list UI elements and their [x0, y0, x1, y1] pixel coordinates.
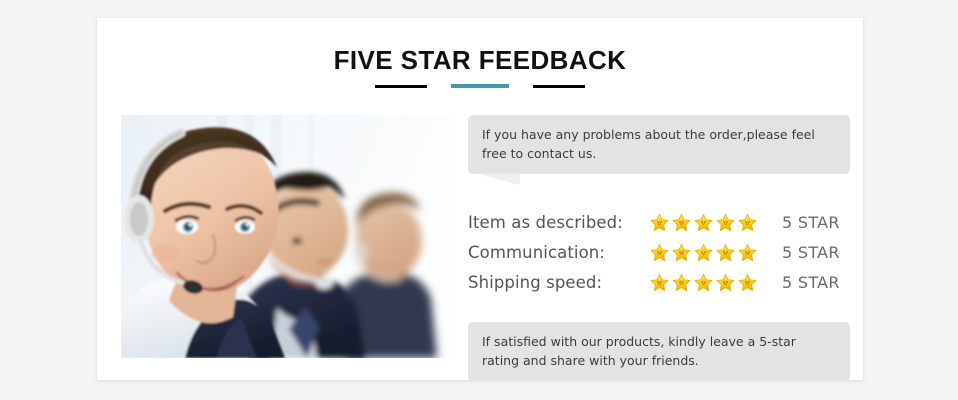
- star-icon: [694, 213, 713, 232]
- rating-label: Shipping speed:: [468, 273, 650, 292]
- rating-label: Communication:: [468, 243, 650, 262]
- rating-stars: [650, 243, 768, 262]
- star-icon: [694, 243, 713, 262]
- contact-notice-text: If you have any problems about the order…: [482, 127, 815, 161]
- satisfaction-notice-text: If satisfied with our products, kindly l…: [482, 334, 796, 368]
- page-root: FIVE STAR FEEDBACK: [0, 0, 958, 400]
- divider-rule-right: [533, 85, 585, 88]
- rating-value: 5 STAR: [768, 273, 840, 292]
- rating-value: 5 STAR: [768, 213, 840, 232]
- feedback-card: FIVE STAR FEEDBACK: [97, 18, 863, 380]
- star-icon: [672, 243, 691, 262]
- rating-stars: [650, 273, 768, 292]
- feedback-details: If you have any problems about the order…: [468, 115, 850, 365]
- star-icon: [694, 273, 713, 292]
- star-icon: [650, 213, 669, 232]
- rating-row: Communication: 5 STAR: [468, 237, 850, 267]
- star-icon: [716, 243, 735, 262]
- title-divider: [97, 84, 863, 88]
- rating-stars: [650, 213, 768, 232]
- contact-notice: If you have any problems about the order…: [468, 115, 850, 174]
- star-icon: [738, 243, 757, 262]
- star-icon: [716, 273, 735, 292]
- call-center-agents-photo: [121, 115, 456, 358]
- divider-rule-middle: [451, 84, 509, 88]
- rating-row: Shipping speed: 5 STAR: [468, 267, 850, 297]
- star-icon: [716, 213, 735, 232]
- rating-row: Item as described: 5 STAR: [468, 207, 850, 237]
- star-icon: [738, 273, 757, 292]
- star-icon: [672, 273, 691, 292]
- star-icon: [672, 213, 691, 232]
- speech-bubble-tail: [474, 173, 520, 185]
- rating-value: 5 STAR: [768, 243, 840, 262]
- divider-rule-left: [375, 85, 427, 88]
- satisfaction-notice: If satisfied with our products, kindly l…: [468, 322, 850, 381]
- rating-label: Item as described:: [468, 213, 650, 232]
- star-icon: [738, 213, 757, 232]
- star-icon: [650, 243, 669, 262]
- ratings-list: Item as described: 5 STAR Communication:: [468, 207, 850, 297]
- star-icon: [650, 273, 669, 292]
- page-title: FIVE STAR FEEDBACK: [97, 45, 863, 76]
